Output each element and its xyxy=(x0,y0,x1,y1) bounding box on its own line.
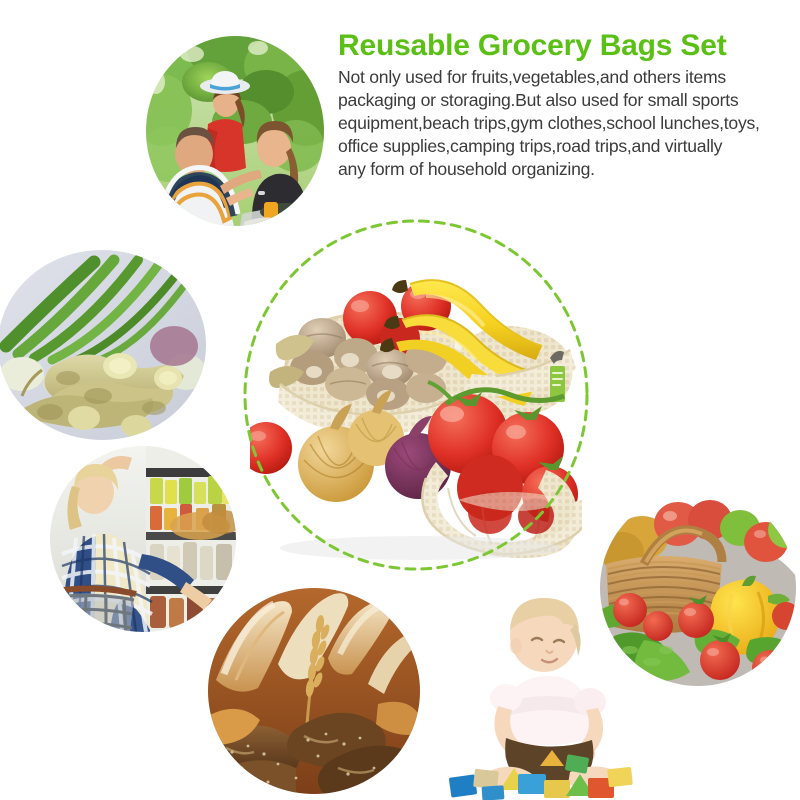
page-title: Reusable Grocery Bags Set xyxy=(338,30,800,62)
breads-bakery-image xyxy=(208,588,420,794)
product-infographic: Reusable Grocery Bags Set Not only used … xyxy=(0,0,800,800)
vignette-ginger-scallions xyxy=(0,250,206,440)
description-line: equipment,beach trips,gym clothes,school… xyxy=(338,112,800,135)
headline-block: Reusable Grocery Bags Set Not only used … xyxy=(338,30,800,181)
ginger-scallions-image xyxy=(0,250,206,440)
vignette-breads-bakery xyxy=(208,588,420,794)
description-line: any form of household organizing. xyxy=(338,158,800,181)
vignette-family-picnic xyxy=(146,36,324,226)
mesh-produce-bags-image xyxy=(250,226,582,564)
vegetable-basket-image xyxy=(600,490,796,686)
description-text: Not only used for fruits,vegetables,and … xyxy=(338,66,800,181)
description-line: office supplies,camping trips,road trips… xyxy=(338,135,800,158)
family-picnic-image xyxy=(146,36,324,226)
description-line: packaging or storaging.But also used for… xyxy=(338,89,800,112)
vignette-vegetable-basket xyxy=(600,490,796,686)
description-line: Not only used for fruits,vegetables,and … xyxy=(338,66,800,89)
hero-product-image xyxy=(250,226,582,564)
